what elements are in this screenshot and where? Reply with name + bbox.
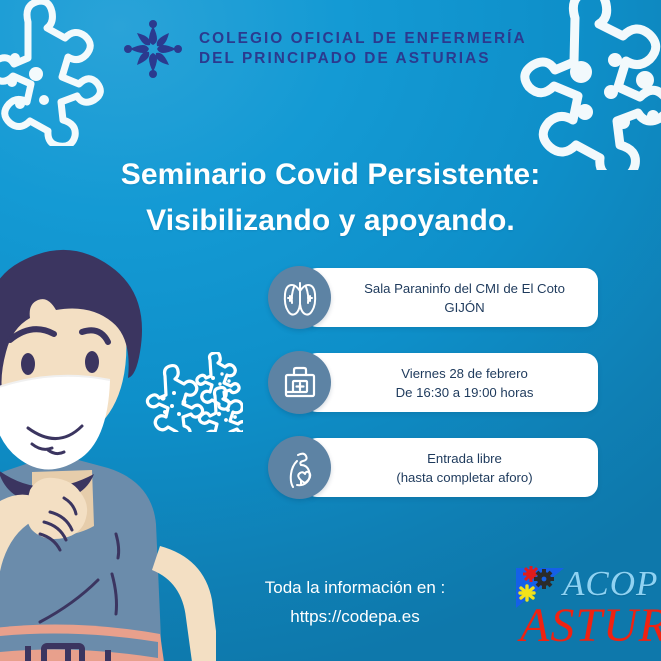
nursing-college-star-icon	[124, 20, 182, 78]
admission-line1: Entrada libre	[427, 451, 502, 466]
datetime-line1: Viernes 28 de febrero	[401, 366, 528, 381]
acop-astur-logo: ACOP ASTUR	[500, 560, 661, 661]
card-text: Sala Paraninfo del CMI de El Coto GIJÓN	[331, 279, 598, 317]
admission-line2: (hasta completar aforo)	[339, 468, 590, 487]
lungs-icon	[268, 266, 331, 329]
org-name: COLEGIO OFICIAL DE ENFERMERÍA DEL PRINCI…	[199, 29, 527, 69]
org-name-line2: DEL PRINCIPADO DE ASTURIAS	[199, 49, 527, 69]
info-card-admission: Entrada libre (hasta completar aforo)	[268, 436, 598, 499]
footer-info: Toda la información en : https://codepa.…	[150, 573, 560, 631]
card-text: Entrada libre (hasta completar aforo)	[331, 449, 598, 487]
card-text: Viernes 28 de febrero De 16:30 a 19:00 h…	[331, 364, 598, 402]
footer-url[interactable]: https://codepa.es	[150, 602, 560, 631]
org-name-line1: COLEGIO OFICIAL DE ENFERMERÍA	[199, 30, 527, 47]
virus-outline-icon	[0, 0, 118, 151]
title-line1: Seminario Covid Persistente:	[121, 158, 541, 191]
info-card-datetime: Viernes 28 de febrero De 16:30 a 19:00 h…	[268, 351, 598, 414]
virus-cluster-icon	[143, 352, 243, 437]
poster-canvas: COLEGIO OFICIAL DE ENFERMERÍA DEL PRINCI…	[0, 0, 661, 661]
datetime-line2: De 16:30 a 19:00 horas	[339, 383, 590, 402]
venue-line1: Sala Paraninfo del CMI de El Coto	[364, 281, 565, 296]
pregnant-woman-heart-icon	[268, 436, 331, 499]
footer-info-label: Toda la información en :	[265, 578, 446, 597]
medical-kit-icon	[268, 351, 331, 414]
virus-outline-icon	[505, 0, 661, 175]
venue-line2: GIJÓN	[339, 298, 590, 317]
info-card-venue: Sala Paraninfo del CMI de El Coto GIJÓN	[268, 266, 598, 329]
info-card-list: Sala Paraninfo del CMI de El Coto GIJÓN	[268, 266, 598, 521]
header-brand: COLEGIO OFICIAL DE ENFERMERÍA DEL PRINCI…	[124, 20, 527, 78]
astur-word: ASTUR	[520, 598, 661, 653]
